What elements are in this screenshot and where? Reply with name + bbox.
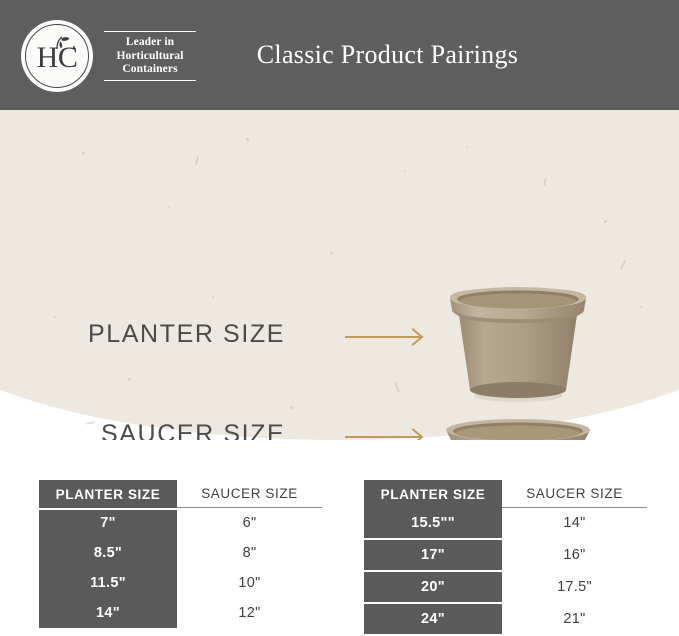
cell-saucer-size: 6"	[177, 508, 322, 538]
table-row: 11.5" 10"	[39, 568, 322, 598]
saucer-size-label: SAUCER SIZE	[101, 420, 285, 440]
cell-saucer-size: 12"	[177, 598, 322, 628]
size-chart-tables: PLANTER SIZE SAUCER SIZE 7" 6" 8.5" 8" 1…	[0, 440, 679, 636]
cell-saucer-size: 17.5"	[502, 572, 647, 602]
cell-planter-size: 7"	[39, 508, 177, 538]
table-header-row: PLANTER SIZE SAUCER SIZE	[364, 480, 647, 508]
table-row: 8.5" 8"	[39, 538, 322, 568]
column-header-planter-size: PLANTER SIZE	[364, 480, 502, 508]
hc-leaf-circle-logo-icon: HC	[21, 20, 93, 92]
table-header-row: PLANTER SIZE SAUCER SIZE	[39, 480, 322, 508]
cell-saucer-size: 21"	[502, 604, 647, 634]
page-header: HC Leader in Horticultural Containers Cl…	[0, 0, 679, 110]
table-row: 14" 12"	[39, 598, 322, 628]
table-row: 17" 16"	[364, 540, 647, 570]
cell-saucer-size: 8"	[177, 538, 322, 568]
planter-pot-image	[440, 278, 596, 404]
size-table-large: PLANTER SIZE SAUCER SIZE 15.5"" 14" 17" …	[364, 480, 647, 636]
column-header-saucer-size: SAUCER SIZE	[502, 480, 647, 508]
arrow-right-icon-saucer	[345, 428, 431, 440]
cell-planter-size: 14"	[39, 598, 177, 628]
column-header-saucer-size: SAUCER SIZE	[177, 480, 322, 508]
table-row: 15.5"" 14"	[364, 508, 647, 538]
tagline-line-2: Horticultural	[106, 50, 194, 64]
cell-saucer-size: 14"	[502, 508, 647, 538]
cell-planter-size: 15.5""	[364, 508, 502, 538]
hero-section: PLANTER SIZE SAUCER SIZE	[0, 110, 679, 440]
brand-tagline: Leader in Horticultural Containers	[104, 31, 196, 81]
column-header-planter-size: PLANTER SIZE	[39, 480, 177, 508]
table-body: 15.5"" 14" 17" 16" 20" 17.5" 24" 21"	[364, 508, 647, 634]
cell-saucer-size: 16"	[502, 540, 647, 570]
cell-planter-size: 17"	[364, 540, 502, 570]
table-row: 20" 17.5"	[364, 572, 647, 602]
cell-planter-size: 24"	[364, 604, 502, 634]
tagline-line-1: Leader in	[106, 36, 194, 50]
table-body: 7" 6" 8.5" 8" 11.5" 10" 14" 12"	[39, 508, 322, 628]
logo-glyph: HC	[21, 20, 93, 92]
planter-size-label: PLANTER SIZE	[88, 320, 285, 349]
size-table-small: PLANTER SIZE SAUCER SIZE 7" 6" 8.5" 8" 1…	[39, 480, 322, 628]
cell-planter-size: 11.5"	[39, 568, 177, 598]
arrow-right-icon-planter	[345, 328, 431, 346]
cell-saucer-size: 10"	[177, 568, 322, 598]
saucer-dish-image	[438, 414, 598, 440]
brand-logo: HC Leader in Horticultural Containers	[21, 20, 196, 92]
table-row: 24" 21"	[364, 604, 647, 634]
tagline-line-3: Containers	[106, 63, 194, 77]
table-row: 7" 6"	[39, 508, 322, 538]
cell-planter-size: 8.5"	[39, 538, 177, 568]
cell-planter-size: 20"	[364, 572, 502, 602]
